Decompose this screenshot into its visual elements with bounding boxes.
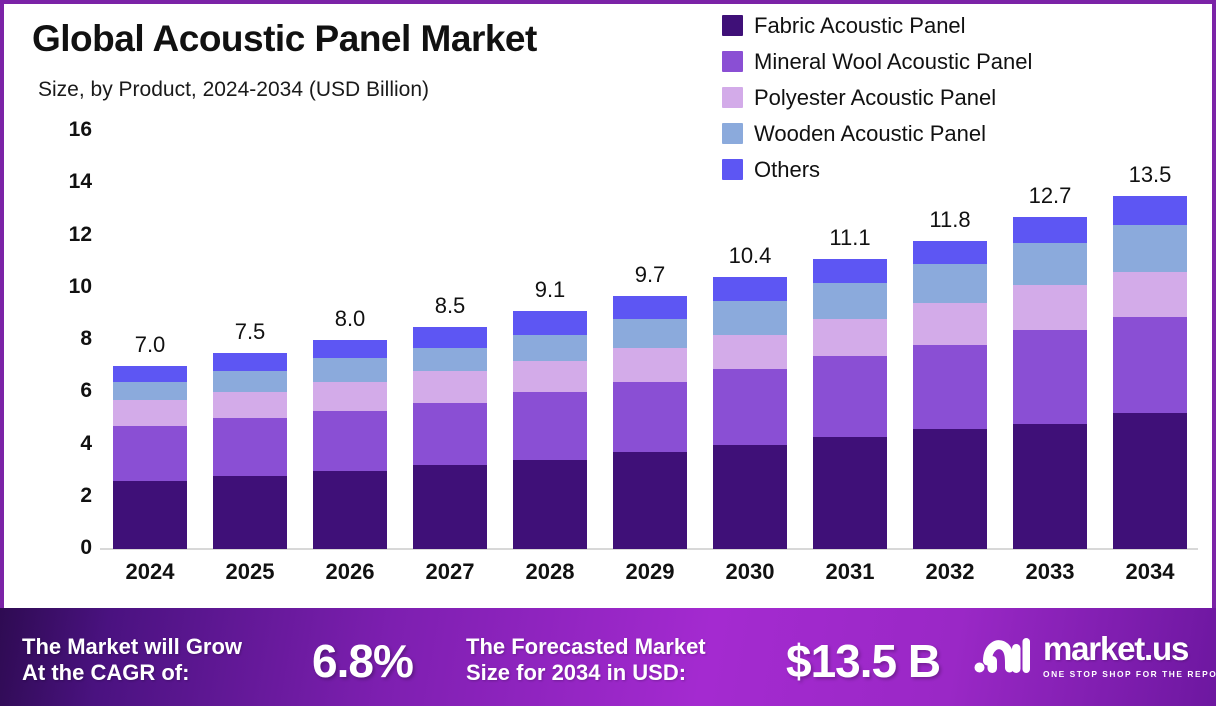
stacked-bar[interactable]: 13.5	[1113, 196, 1187, 549]
plot-area: 0246810121416 7.07.58.08.59.19.710.411.1…	[100, 130, 1200, 549]
bar-segment[interactable]	[613, 452, 687, 549]
y-axis-tick-label: 2	[48, 484, 92, 508]
legend-item-label: Polyester Acoustic Panel	[754, 85, 996, 111]
bar-segment[interactable]	[513, 460, 587, 549]
infographic-root: Global Acoustic Panel Market Size, by Pr…	[0, 0, 1216, 706]
bar-segment[interactable]	[1113, 272, 1187, 316]
legend-item[interactable]: Polyester Acoustic Panel	[722, 84, 1032, 111]
legend-swatch-icon	[722, 51, 743, 72]
bar-segment[interactable]	[113, 382, 187, 400]
bar-segment[interactable]	[413, 371, 487, 402]
page-title: Global Acoustic Panel Market	[32, 18, 537, 60]
forecast-label: The Forecasted Market Size for 2034 in U…	[466, 634, 706, 685]
bar-value-label: 9.7	[635, 262, 666, 288]
legend-swatch-icon	[722, 87, 743, 108]
bar-segment[interactable]	[113, 400, 187, 426]
y-axis-tick-label: 8	[48, 327, 92, 351]
x-axis-tick-label: 2033	[1000, 559, 1100, 585]
bar-segment[interactable]	[413, 327, 487, 348]
market-us-logo[interactable]: market.us ONE STOP SHOP FOR THE REPORTS	[974, 632, 1216, 679]
stacked-bar[interactable]: 8.5	[413, 327, 487, 549]
bar-segment[interactable]	[113, 481, 187, 549]
bar-segment[interactable]	[1113, 317, 1187, 414]
logo-text: market.us ONE STOP SHOP FOR THE REPORTS	[1043, 632, 1216, 679]
bar-segment[interactable]	[1013, 285, 1087, 329]
legend-item[interactable]: Fabric Acoustic Panel	[722, 12, 1032, 39]
bar-segment[interactable]	[1013, 217, 1087, 243]
bar-segment[interactable]	[613, 348, 687, 382]
stacked-bar[interactable]: 8.0	[313, 340, 387, 549]
stacked-bar[interactable]: 11.8	[913, 241, 987, 549]
x-axis-tick-label: 2029	[600, 559, 700, 585]
bar-value-label: 8.0	[335, 306, 366, 332]
bar-segment[interactable]	[813, 319, 887, 356]
bar-segment[interactable]	[213, 476, 287, 549]
x-axis-tick-label: 2030	[700, 559, 800, 585]
forecast-value: $13.5 B	[786, 634, 940, 688]
y-axis-tick-label: 10	[48, 275, 92, 299]
bar-segment[interactable]	[713, 369, 787, 445]
x-axis-tick-label: 2027	[400, 559, 500, 585]
bar-value-label: 11.8	[929, 207, 970, 233]
legend-item-label: Mineral Wool Acoustic Panel	[754, 49, 1032, 75]
legend-item-label: Fabric Acoustic Panel	[754, 13, 966, 39]
bar-segment[interactable]	[1013, 330, 1087, 424]
x-axis-tick-label: 2026	[300, 559, 400, 585]
bar-group: 7.07.58.08.59.19.710.411.111.812.713.5	[100, 130, 1200, 549]
stacked-bar[interactable]: 9.1	[513, 311, 587, 549]
bar-value-label: 11.1	[829, 225, 870, 251]
bar-value-label: 8.5	[435, 293, 466, 319]
cagr-label: The Market will Grow At the CAGR of:	[22, 634, 242, 685]
bar-segment[interactable]	[913, 345, 987, 429]
bar-segment[interactable]	[413, 348, 487, 372]
bar-segment[interactable]	[213, 418, 287, 475]
bar-segment[interactable]	[1113, 196, 1187, 225]
stacked-bar[interactable]: 12.7	[1013, 217, 1087, 549]
bar-segment[interactable]	[113, 366, 187, 382]
x-axis-tick-label: 2031	[800, 559, 900, 585]
bar-segment[interactable]	[713, 301, 787, 335]
stacked-bar[interactable]: 7.0	[113, 366, 187, 549]
bar-value-label: 9.1	[535, 277, 566, 303]
bar-segment[interactable]	[913, 303, 987, 345]
chart-subtitle: Size, by Product, 2024-2034 (USD Billion…	[38, 78, 429, 102]
bar-segment[interactable]	[1113, 413, 1187, 549]
bar-segment[interactable]	[913, 429, 987, 549]
bar-segment[interactable]	[313, 340, 387, 358]
x-axis-tick-label: 2025	[200, 559, 300, 585]
bar-value-label: 10.4	[729, 243, 772, 269]
x-axis-tick-label: 2034	[1100, 559, 1200, 585]
y-axis-tick-label: 12	[48, 223, 92, 247]
bar-segment[interactable]	[313, 358, 387, 382]
bar-value-label: 13.5	[1129, 162, 1172, 188]
bar-segment[interactable]	[813, 437, 887, 549]
stacked-bar[interactable]: 11.1	[813, 259, 887, 549]
bar-segment[interactable]	[713, 277, 787, 301]
bar-segment[interactable]	[713, 445, 787, 550]
bar-segment[interactable]	[513, 392, 587, 460]
bar-segment[interactable]	[313, 411, 387, 471]
bar-segment[interactable]	[313, 382, 387, 411]
bar-segment[interactable]	[1113, 225, 1187, 272]
bar-segment[interactable]	[613, 382, 687, 453]
bar-segment[interactable]	[813, 259, 887, 283]
bar-segment[interactable]	[213, 371, 287, 392]
bar-segment[interactable]	[213, 353, 287, 371]
y-axis-tick-label: 16	[48, 118, 92, 142]
bar-value-label: 12.7	[1029, 183, 1072, 209]
bar-segment[interactable]	[413, 403, 487, 466]
logo-tagline: ONE STOP SHOP FOR THE REPORTS	[1043, 669, 1216, 679]
x-axis-tick-label: 2032	[900, 559, 1000, 585]
bar-segment[interactable]	[613, 296, 687, 320]
logo-wordmark: market.us	[1043, 632, 1216, 665]
bar-value-label: 7.0	[135, 332, 166, 358]
legend-swatch-icon	[722, 15, 743, 36]
chart-card: Global Acoustic Panel Market Size, by Pr…	[0, 0, 1216, 608]
stacked-bar[interactable]: 9.7	[613, 296, 687, 549]
bar-segment[interactable]	[213, 392, 287, 418]
bar-segment[interactable]	[513, 311, 587, 335]
y-axis-tick-label: 0	[48, 536, 92, 560]
bar-segment[interactable]	[113, 426, 187, 481]
x-axis-tick-label: 2028	[500, 559, 600, 585]
bar-segment[interactable]	[313, 471, 387, 549]
legend-item[interactable]: Mineral Wool Acoustic Panel	[722, 48, 1032, 75]
bar-segment[interactable]	[1013, 424, 1087, 549]
bar-segment[interactable]	[613, 319, 687, 348]
bar-value-label: 7.5	[235, 319, 266, 345]
bar-segment[interactable]	[913, 264, 987, 303]
stacked-bar[interactable]: 7.5	[213, 353, 287, 549]
bar-segment[interactable]	[413, 465, 487, 549]
y-axis-tick-label: 14	[48, 170, 92, 194]
stacked-bar[interactable]: 10.4	[713, 277, 787, 549]
y-axis-tick-label: 6	[48, 379, 92, 403]
bar-segment[interactable]	[513, 361, 587, 392]
market-us-logo-icon	[974, 634, 1030, 678]
x-axis-tick-label: 2024	[100, 559, 200, 585]
y-axis-tick-label: 4	[48, 432, 92, 456]
bar-segment[interactable]	[813, 356, 887, 437]
bar-segment[interactable]	[913, 241, 987, 265]
bar-segment[interactable]	[1013, 243, 1087, 285]
bar-segment[interactable]	[813, 283, 887, 320]
footer-banner: The Market will Grow At the CAGR of: 6.8…	[0, 608, 1216, 706]
bar-segment[interactable]	[513, 335, 587, 361]
bar-segment[interactable]	[713, 335, 787, 369]
cagr-value: 6.8%	[312, 634, 413, 688]
